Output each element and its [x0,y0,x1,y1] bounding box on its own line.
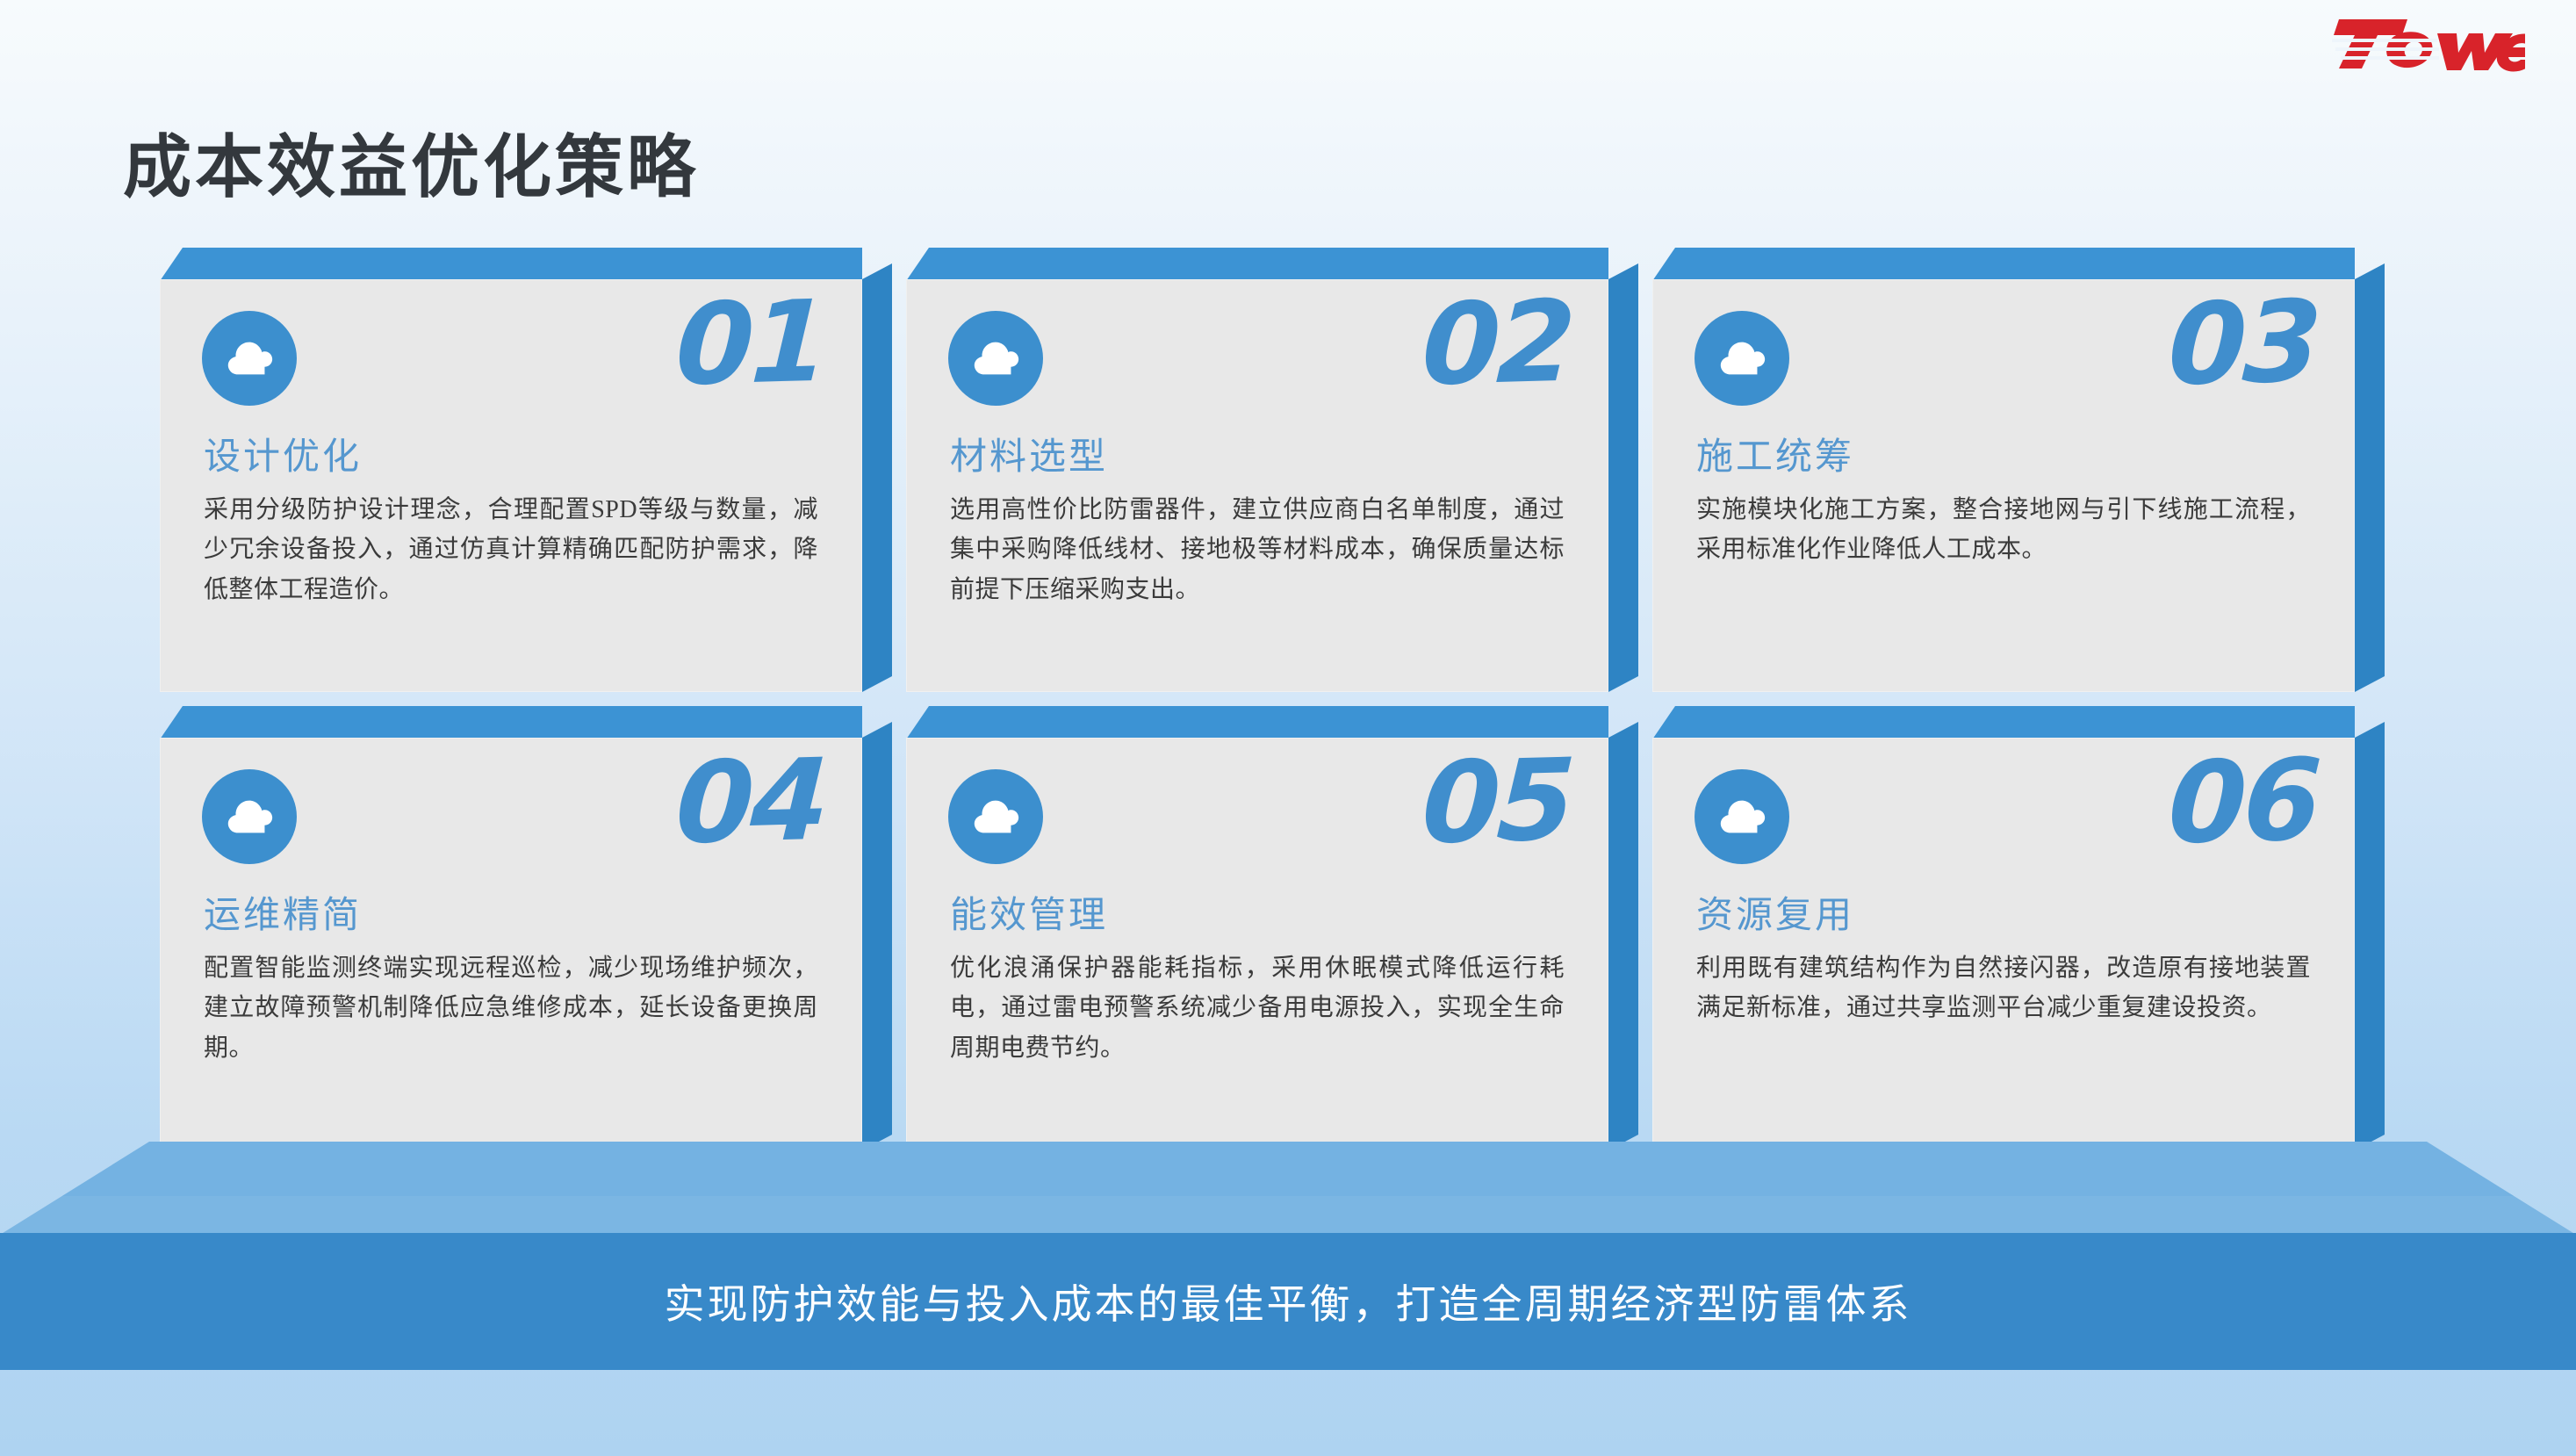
card-number: 06 [2166,745,2321,861]
card-side-face [862,722,892,1150]
card-side-face [2355,722,2385,1150]
cloud-icon [948,311,1043,406]
card-number: 03 [2166,286,2321,402]
card-number: 01 [673,286,828,402]
strategy-card-3[interactable]: 03 施工统筹 实施模块化施工方案，整合接地网与引下线施工流程，采用标准化作业降… [1652,279,2355,692]
card-top-face [1652,706,2355,739]
cloud-icon [202,769,297,864]
card-description: 优化浪涌保护器能耗指标，采用休眠模式降低运行耗电，通过雷电预警系统减少备用电源投… [950,948,1565,1068]
platform-base: 实现防护效能与投入成本的最佳平衡，打造全周期经济型防雷体系 [0,1142,2576,1405]
card-title: 设计优化 [204,427,362,480]
card-side-face [2355,263,2385,692]
card-description: 配置智能监测终端实现远程巡检，减少现场维护频次，建立故障预警机制降低应急维修成本… [204,948,818,1068]
card-top-face [906,706,1608,739]
card-title: 材料选型 [950,427,1108,480]
towe-logo [2323,12,2525,74]
cloud-icon [202,311,297,406]
strategy-card-6[interactable]: 06 资源复用 利用既有建筑结构作为自然接闪器，改造原有接地装置满足新标准，通过… [1652,738,2355,1150]
page-title: 成本效益优化策略 [123,112,699,211]
strategy-card-2[interactable]: 02 材料选型 选用高性价比防雷器件，建立供应商白名单制度，通过集中采购降低线材… [906,279,1608,692]
card-title: 资源复用 [1696,885,1854,939]
card-side-face [1608,722,1638,1150]
strategy-card-4[interactable]: 04 运维精简 配置智能监测终端实现远程巡检，减少现场维护频次，建立故障预警机制… [160,738,862,1150]
card-number: 05 [1420,745,1574,861]
strategy-card-1[interactable]: 01 设计优化 采用分级防护设计理念，合理配置SPD等级与数量，减少冗余设备投入… [160,279,862,692]
cloud-icon [948,769,1043,864]
cloud-icon [1695,769,1789,864]
card-top-face [906,248,1608,281]
card-top-face [1652,248,2355,281]
card-description: 实施模块化施工方案，整合接地网与引下线施工流程，采用标准化作业降低人工成本。 [1696,490,2311,570]
card-title: 施工统筹 [1696,427,1854,480]
card-title: 运维精简 [204,885,362,939]
card-number: 04 [673,745,828,861]
strategy-card-5[interactable]: 05 能效管理 优化浪涌保护器能耗指标，采用休眠模式降低运行耗电，通过雷电预警系… [906,738,1608,1150]
card-number: 02 [1420,286,1574,402]
card-side-face [1608,263,1638,692]
card-side-face [862,263,892,692]
card-title: 能效管理 [950,885,1108,939]
platform-sheen [0,1196,2576,1235]
card-top-face [160,706,862,739]
cloud-icon [1695,311,1789,406]
card-description: 选用高性价比防雷器件，建立供应商白名单制度，通过集中采购降低线材、接地极等材料成… [950,490,1565,609]
summary-banner-text: 实现防护效能与投入成本的最佳平衡，打造全周期经济型防雷体系 [0,1233,2576,1370]
card-top-face [160,248,862,281]
towe-logo-mark [2323,12,2525,74]
card-description: 采用分级防护设计理念，合理配置SPD等级与数量，减少冗余设备投入，通过仿真计算精… [204,490,818,609]
card-description: 利用既有建筑结构作为自然接闪器，改造原有接地装置满足新标准，通过共享监测平台减少… [1696,948,2311,1028]
